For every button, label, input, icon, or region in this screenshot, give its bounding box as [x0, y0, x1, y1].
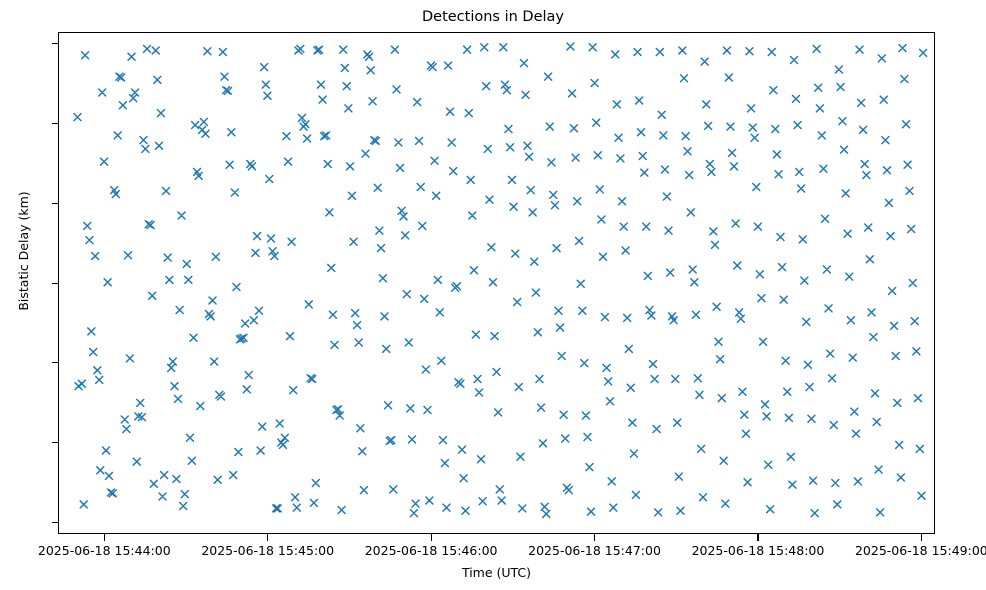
scatter-markers [74, 43, 927, 517]
x-tick-mark [921, 534, 922, 541]
plot-axes [58, 32, 935, 534]
x-tick-mark [594, 534, 595, 541]
y-axis-label: Bistatic Delay (km) [16, 141, 32, 361]
matplotlib-figure: Detections in Delay Bistatic Delay (km) … [0, 0, 986, 590]
x-tick-mark [104, 534, 105, 541]
x-axis-label: Time (UTC) [58, 565, 935, 581]
x-tick-label: 2025-06-18 15:44:00 [24, 542, 184, 560]
x-tick-label: 2025-06-18 15:46:00 [351, 542, 511, 560]
chart-title: Detections in Delay [0, 8, 986, 26]
x-tick-label: 2025-06-18 15:49:00 [841, 542, 986, 560]
x-tick-mark [757, 534, 758, 541]
x-tick-mark [267, 534, 268, 541]
x-tick-label: 2025-06-18 15:47:00 [515, 542, 675, 560]
x-tick-label: 2025-06-18 15:45:00 [188, 542, 348, 560]
x-tick-mark [431, 534, 432, 541]
scatter-series [59, 33, 934, 533]
x-tick-label: 2025-06-18 15:48:00 [678, 542, 838, 560]
